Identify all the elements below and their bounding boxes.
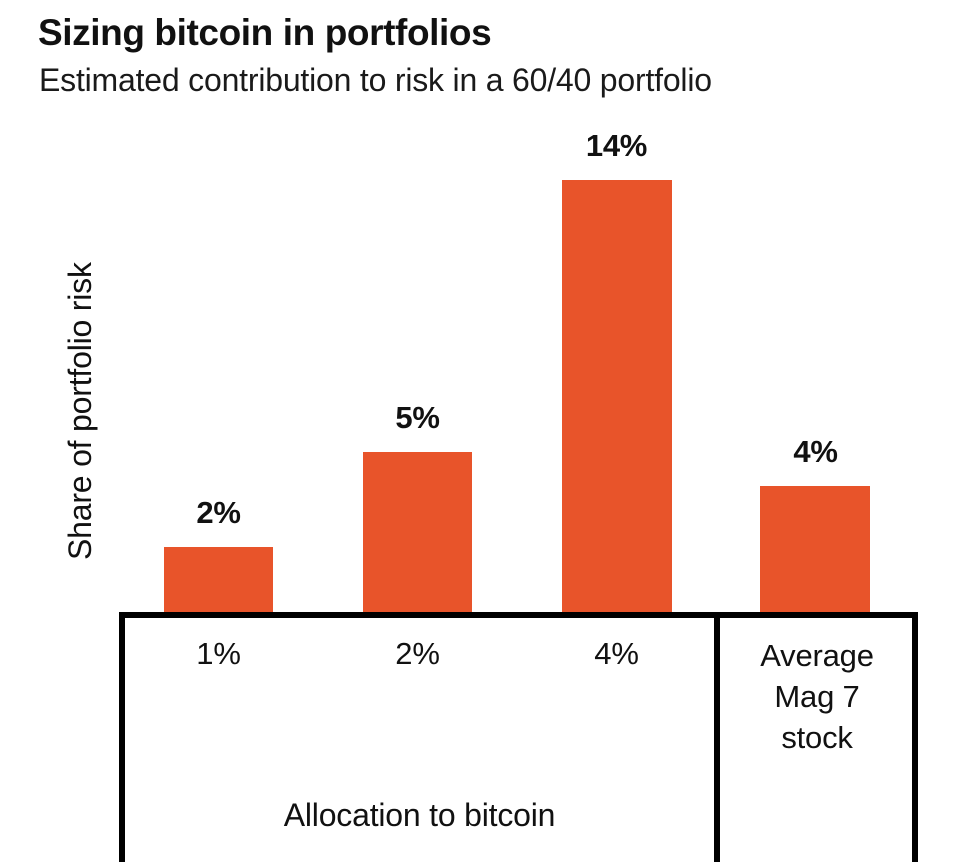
bar-value-label-average-mag7-stock: 4% <box>751 434 880 470</box>
plot-area: 2% 5% 14% 4% 1% 2% 4% Average Mag 7 stoc… <box>0 0 959 862</box>
bar-allocation-1pct[interactable] <box>164 547 273 612</box>
bar-allocation-4pct[interactable] <box>562 180 672 612</box>
axis-rule-divider <box>714 612 720 862</box>
bar-value-label-allocation-4pct: 14% <box>552 128 681 164</box>
x-axis-baseline <box>119 612 918 618</box>
chart-canvas: Sizing bitcoin in portfolios Estimated c… <box>0 0 959 862</box>
bar-value-label-allocation-2pct: 5% <box>353 400 482 436</box>
x-tick-label-line-2: Mag 7 <box>722 677 912 718</box>
x-tick-label-1pct: 1% <box>154 636 283 672</box>
axis-rule-right <box>912 612 918 862</box>
x-tick-label-line-1: Average <box>722 636 912 677</box>
x-tick-label-average-mag7-stock: Average Mag 7 stock <box>722 636 912 759</box>
x-tick-label-line-3: stock <box>722 718 912 759</box>
x-axis-group-title: Allocation to bitcoin <box>125 797 714 834</box>
x-tick-label-2pct: 2% <box>353 636 482 672</box>
bar-allocation-2pct[interactable] <box>363 452 472 612</box>
x-tick-label-4pct: 4% <box>552 636 681 672</box>
bar-value-label-allocation-1pct: 2% <box>154 495 283 531</box>
bar-average-mag7-stock[interactable] <box>760 486 870 612</box>
